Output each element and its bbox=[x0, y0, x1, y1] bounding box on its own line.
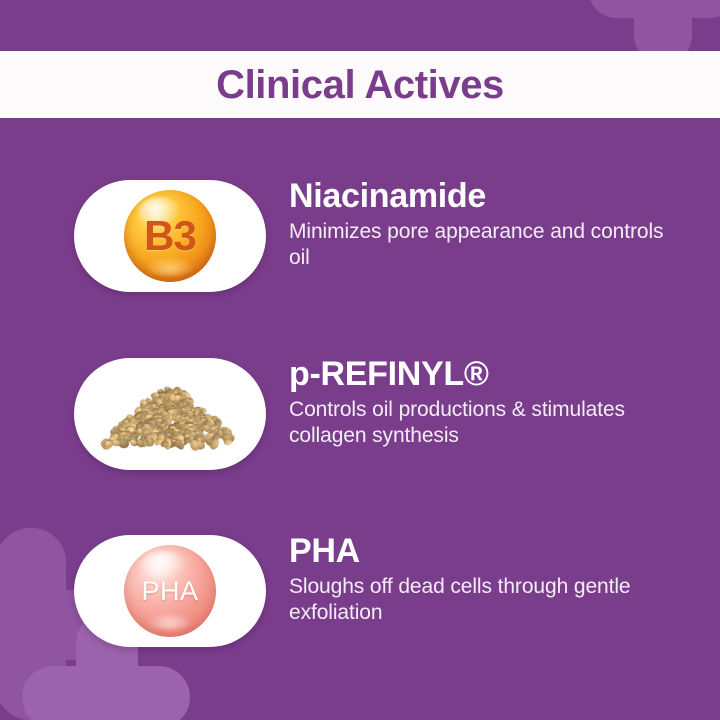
active-row: PHA PHA Sloughs off dead cells through g… bbox=[0, 531, 720, 651]
icon-card bbox=[74, 358, 266, 470]
page-title: Clinical Actives bbox=[216, 65, 504, 105]
active-text-block: Niacinamide Minimizes pore appearance an… bbox=[289, 176, 689, 271]
b3-vitamin-sphere-icon: B3 bbox=[124, 190, 216, 282]
plus-bar-horizontal bbox=[22, 666, 190, 720]
icon-card: B3 bbox=[74, 180, 266, 292]
active-name: PHA bbox=[289, 531, 689, 571]
active-row: p-REFINYL® Controls oil productions & st… bbox=[0, 354, 720, 474]
b3-sphere-label: B3 bbox=[144, 215, 196, 257]
active-description: Minimizes pore appearance and controls o… bbox=[289, 219, 681, 271]
active-text-block: PHA Sloughs off dead cells through gentl… bbox=[289, 531, 689, 626]
active-name: p-REFINYL® bbox=[289, 354, 689, 394]
active-description: Controls oil productions & stimulates co… bbox=[289, 397, 681, 449]
plus-bar-horizontal bbox=[588, 0, 720, 18]
infographic-canvas: Clinical Actives B3 Niacinamide Minimize… bbox=[0, 0, 720, 720]
seed bbox=[223, 439, 232, 446]
active-text-block: p-REFINYL® Controls oil productions & st… bbox=[289, 354, 689, 449]
active-row: B3 Niacinamide Minimizes pore appearance… bbox=[0, 176, 720, 296]
seed bbox=[104, 440, 113, 447]
icon-card: PHA bbox=[74, 535, 266, 647]
lentil-seeds-pile-icon bbox=[95, 378, 245, 450]
active-description: Sloughs off dead cells through gentle ex… bbox=[289, 574, 681, 626]
pha-sphere-icon: PHA bbox=[124, 545, 216, 637]
pha-sphere-label: PHA bbox=[141, 578, 198, 605]
header-band: Clinical Actives bbox=[0, 51, 720, 118]
active-name: Niacinamide bbox=[289, 176, 689, 216]
